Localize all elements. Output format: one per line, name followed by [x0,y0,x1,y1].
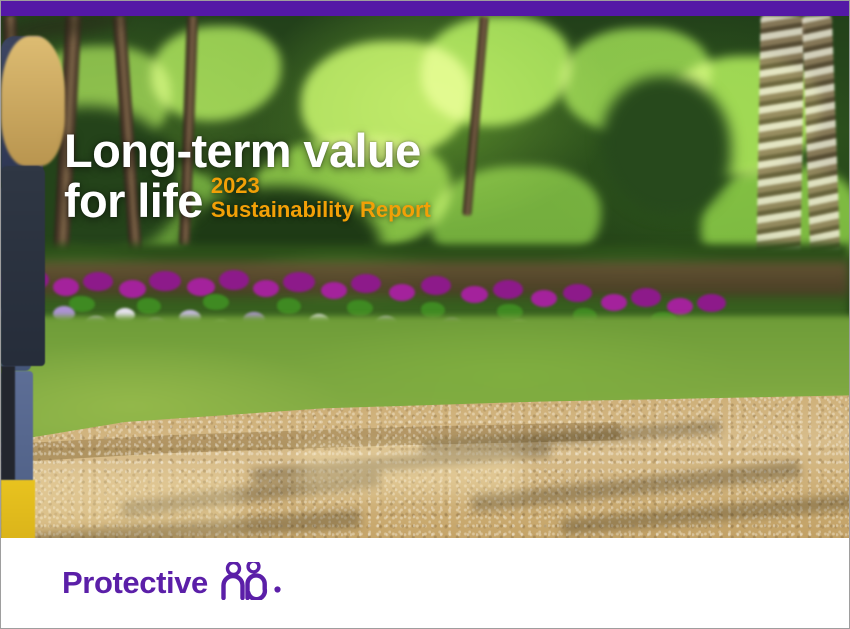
woman-leg-back [1,166,45,366]
protective-logo: Protective [62,562,282,605]
woman-inner-top [1,366,15,480]
report-cover-page: Long-term value for life 2023 Sustainabi… [0,0,850,629]
cover-title-block: Long-term value for life 2023 Sustainabi… [64,127,431,225]
person-woman [1,16,131,538]
cover-photograph [1,16,849,538]
brand-top-bar [1,1,850,16]
logo-wordmark: Protective [62,565,208,601]
cover-subtitle-block: 2023 Sustainability Report [211,175,431,225]
logo-trademark-dot [273,581,282,605]
sun-patch [301,446,521,496]
woman-yellow-top [1,480,35,538]
cover-footer: Protective [1,538,849,628]
title-line-2: for life [64,177,203,225]
report-year: 2023 [211,175,431,197]
title-line-1: Long-term value [64,127,431,175]
report-title: Sustainability Report [211,197,431,222]
woman-hair-back [1,36,65,166]
two-people-icon [219,562,271,605]
